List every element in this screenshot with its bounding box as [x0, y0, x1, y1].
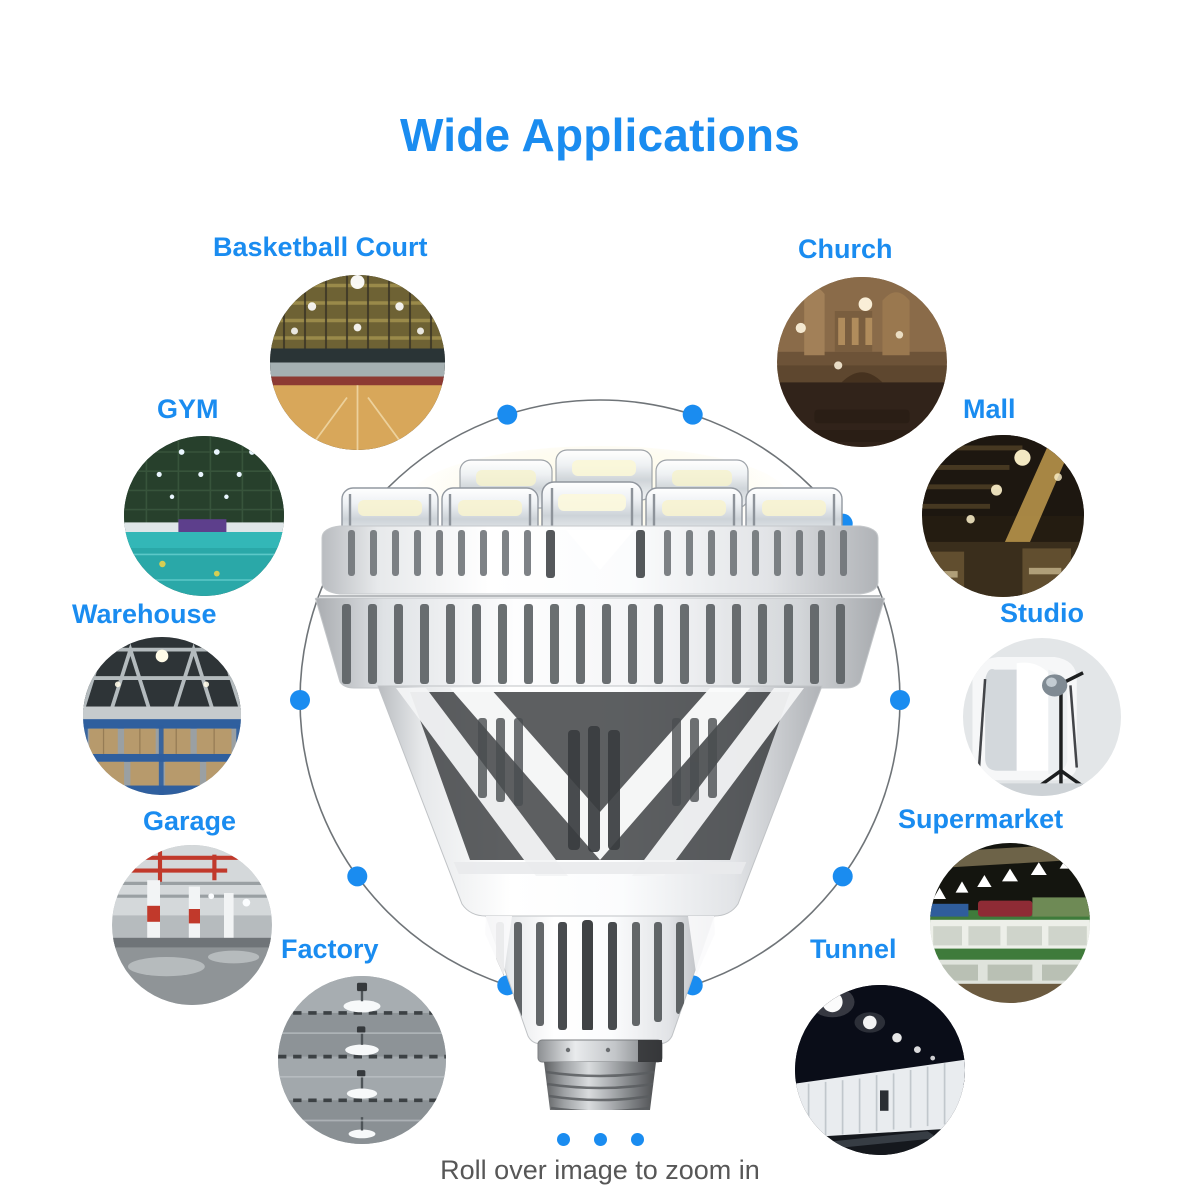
application-label-factory: Factory	[281, 936, 379, 963]
thumbnail-scene-supermarket	[930, 843, 1090, 1003]
pager-dot-1[interactable]	[557, 1133, 570, 1146]
application-label-gym: GYM	[157, 396, 219, 423]
thumbnail-scene-tunnel	[795, 985, 965, 1155]
application-thumbnail-basketball-court[interactable]	[270, 275, 445, 450]
image-pager-dots[interactable]	[0, 1131, 1200, 1149]
application-label-studio: Studio	[1000, 600, 1084, 627]
application-thumbnail-supermarket[interactable]	[930, 843, 1090, 1003]
application-label-garage: Garage	[143, 808, 236, 835]
application-thumbnail-factory[interactable]	[278, 976, 446, 1144]
application-label-tunnel: Tunnel	[810, 936, 896, 963]
application-thumbnail-tunnel[interactable]	[795, 985, 965, 1155]
application-label-church: Church	[798, 236, 893, 263]
thumbnail-scene-factory	[278, 976, 446, 1144]
application-label-warehouse: Warehouse	[72, 601, 217, 628]
zoom-hint-caption: Roll over image to zoom in	[0, 1155, 1200, 1186]
application-thumbnail-garage[interactable]	[112, 845, 272, 1005]
application-thumbnail-church[interactable]	[777, 277, 947, 447]
thumbnail-scene-studio	[963, 638, 1121, 796]
application-label-mall: Mall	[963, 396, 1016, 423]
application-thumbnail-warehouse[interactable]	[83, 637, 241, 795]
application-label-supermarket: Supermarket	[898, 806, 1063, 833]
thumbnail-scene-garage	[112, 845, 272, 1005]
orbit-dot-church[interactable]	[683, 405, 703, 425]
pager-dot-2[interactable]	[594, 1133, 607, 1146]
orbit-dot-basketball-court[interactable]	[497, 405, 517, 425]
thumbnail-scene-warehouse	[83, 637, 241, 795]
application-thumbnail-mall[interactable]	[922, 435, 1084, 597]
thumbnail-scene-gym	[124, 436, 284, 596]
e26-screw-base	[538, 1040, 662, 1110]
application-label-basketball-court: Basketball Court	[213, 234, 428, 261]
pager-dot-3[interactable]	[631, 1133, 644, 1146]
infographic-stage: Wide Applications	[0, 0, 1200, 1200]
thumbnail-scene-basketball-court	[270, 275, 445, 450]
thumbnail-scene-mall	[922, 435, 1084, 597]
application-thumbnail-gym[interactable]	[124, 436, 284, 596]
application-thumbnail-studio[interactable]	[963, 638, 1121, 796]
thumbnail-scene-church	[777, 277, 947, 447]
